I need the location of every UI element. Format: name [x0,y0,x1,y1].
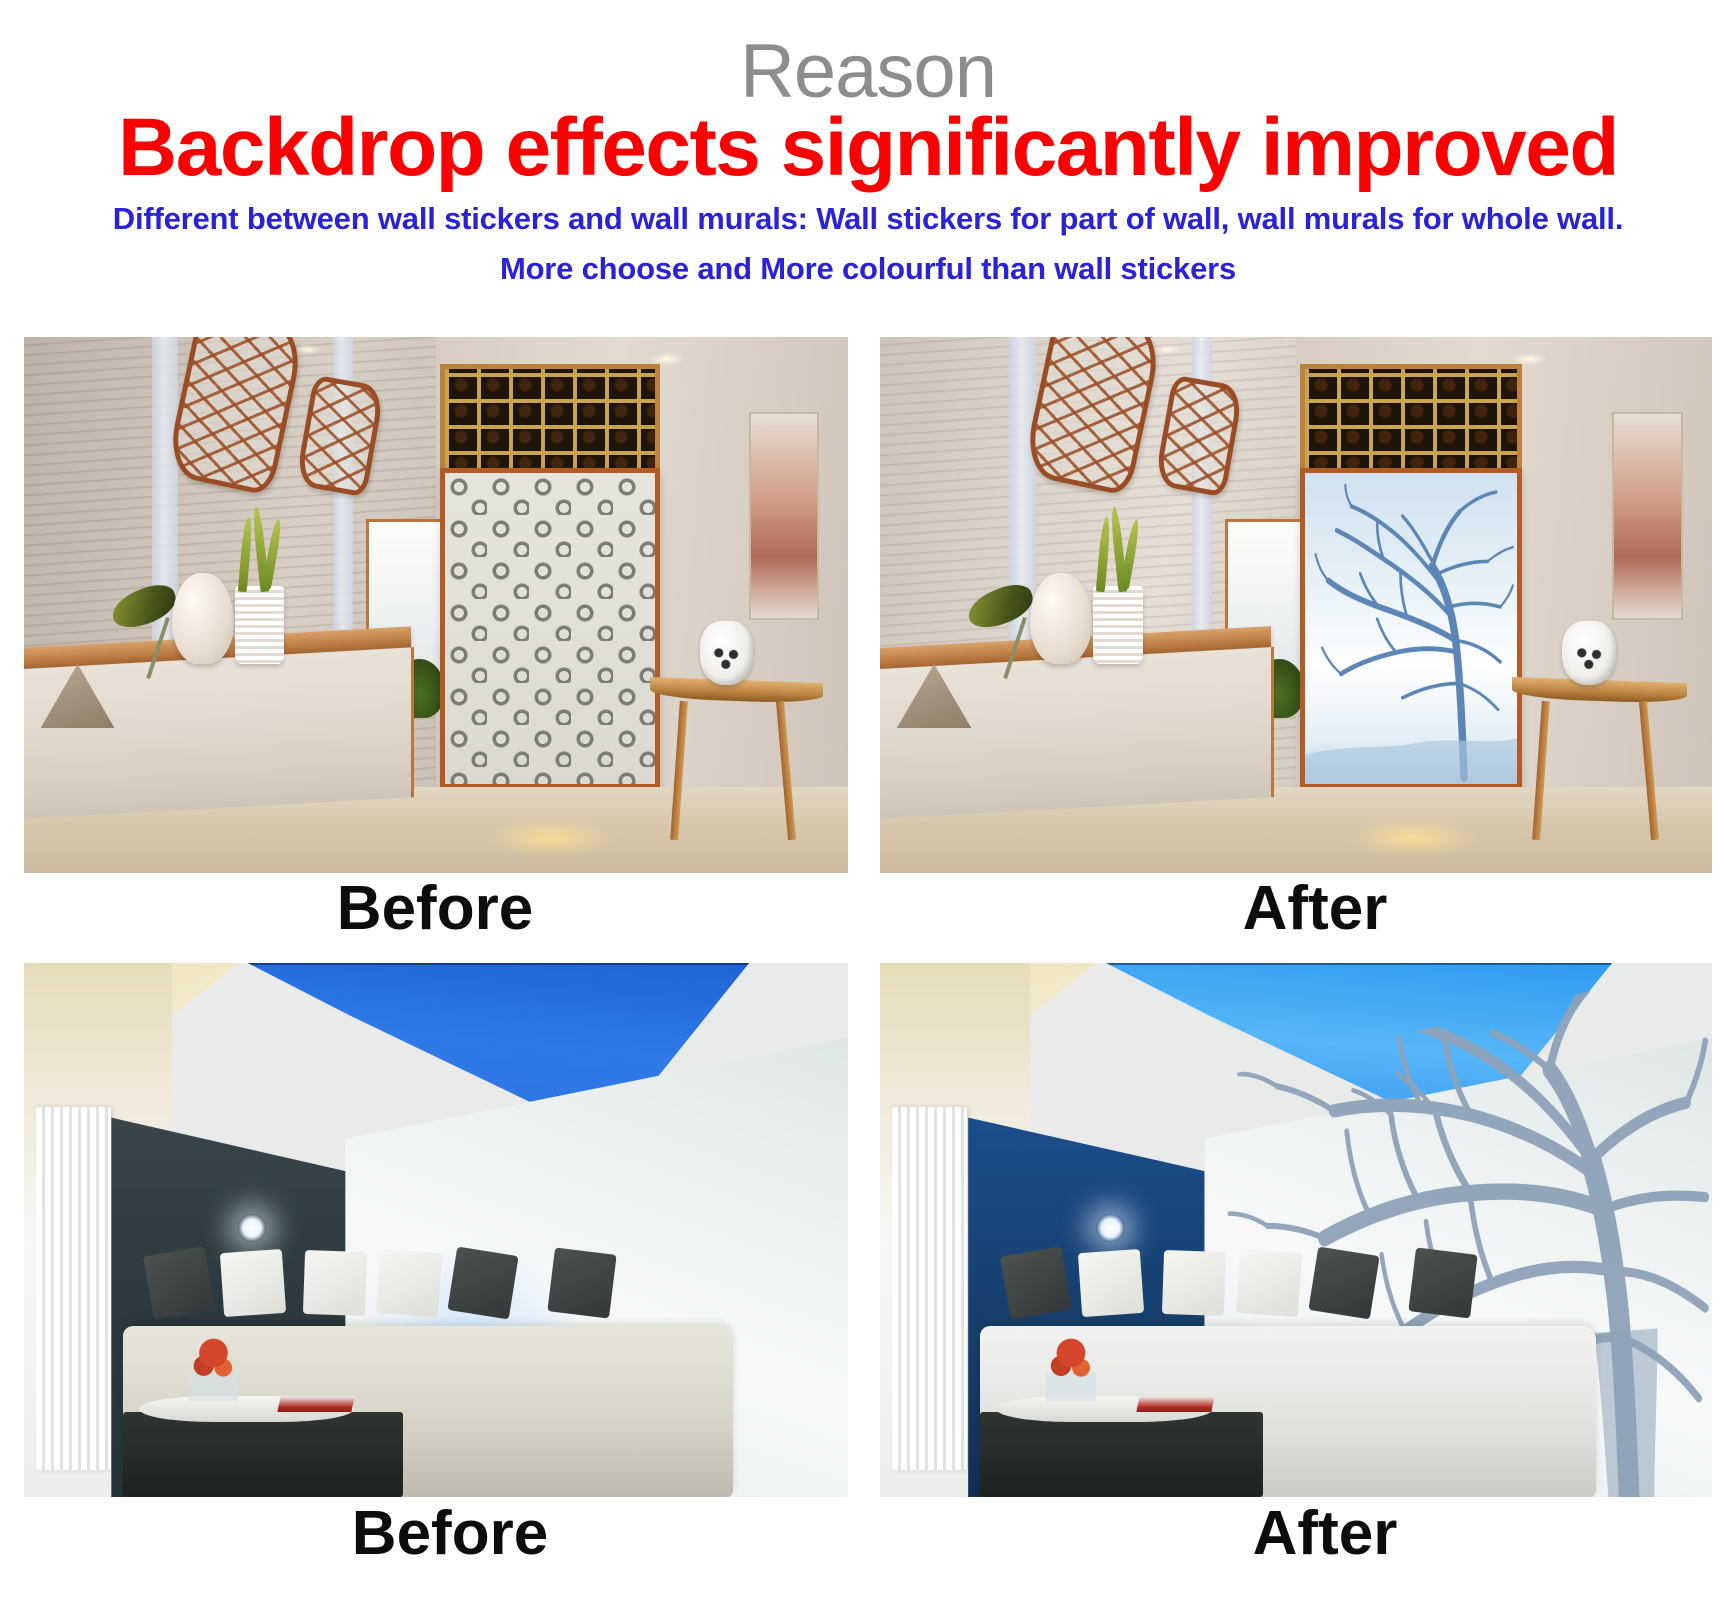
sofa-cushion [220,1249,286,1317]
spot-light [1096,1214,1124,1242]
radiator [892,1107,967,1470]
eyebrow-title: Reason [0,34,1736,110]
page-title: Backdrop effects significantly improved [0,104,1736,192]
feature-wall-niche [440,468,660,789]
feature-wall-niche [1300,468,1522,789]
sofa-cushion [1162,1250,1227,1316]
hallway-scene-before [24,337,848,873]
photo-lounge-after [880,963,1712,1497]
sofa-cushion [1236,1249,1303,1317]
ribbed-planter [235,586,284,664]
photo-lounge-before [24,963,848,1497]
ceiling-light [296,345,321,354]
caption-lounge-after: After [1040,1503,1610,1565]
dark-cushion [448,1247,519,1320]
book [278,1396,356,1412]
white-vase [172,573,234,664]
sofa-cushion [376,1249,442,1317]
dark-cushion [142,1246,214,1320]
lounge-scene-after [880,963,1712,1497]
flower-vase [1046,1337,1096,1401]
caption-hallway-after: After [1030,878,1600,940]
sofa-cushion [1078,1249,1145,1317]
tree-wall-mural [1305,473,1517,784]
subtitle-line-1: Different between wall stickers and wall… [0,200,1736,238]
lounge-scene-before [24,963,848,1497]
book [1136,1396,1214,1412]
white-vase [1030,573,1092,664]
dark-cushion [1000,1246,1073,1320]
ribbed-planter [1093,586,1143,664]
dark-cushion [1409,1248,1479,1319]
photo-hallway-before [24,337,848,873]
subtitle-line-2: More choose and More colourful than wall… [0,250,1736,288]
spot-light [238,1214,266,1242]
wall-artwork [749,412,819,620]
coffee-table [123,1412,403,1497]
ceramic-jar [700,621,754,685]
coffee-table [980,1412,1263,1497]
radiator [36,1107,110,1470]
ceramic-jar [1562,621,1616,685]
dark-cushion [548,1248,617,1319]
hallway-scene-after [880,337,1712,873]
caption-hallway-before: Before [150,878,720,940]
photo-hallway-after [880,337,1712,873]
flower-vase [189,1337,238,1401]
caption-lounge-before: Before [165,1503,735,1565]
plain-wallpaper [445,473,655,784]
floor-light-reflection [1346,819,1479,857]
ceiling-light [1155,345,1180,354]
sofa-cushion [303,1250,367,1316]
floor-light-reflection [485,819,617,857]
dark-cushion [1308,1247,1380,1320]
wall-artwork [1612,412,1683,620]
header: Reason Backdrop effects significantly im… [0,0,1736,300]
